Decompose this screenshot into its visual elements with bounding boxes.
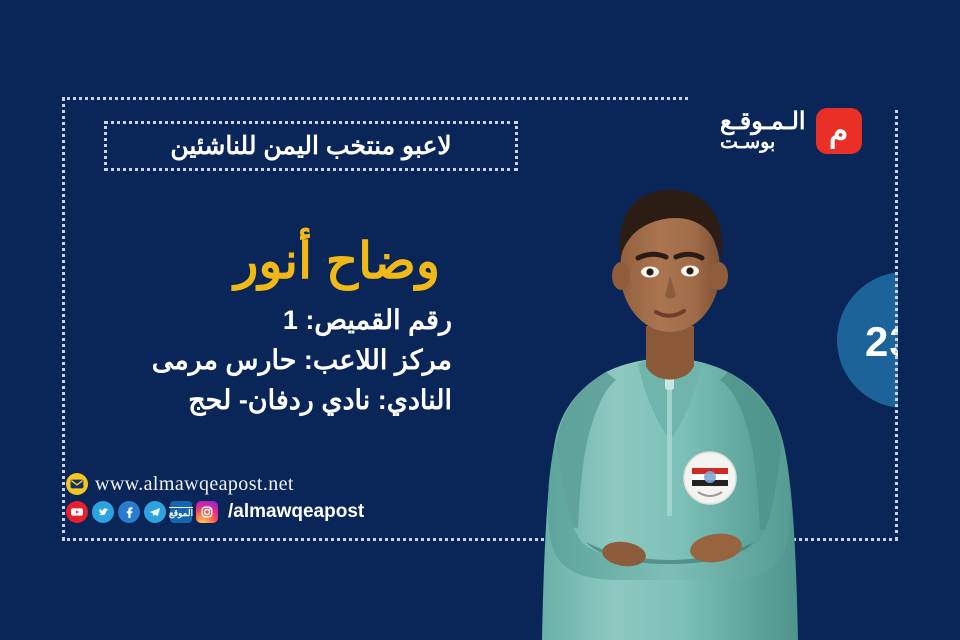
website-row[interactable]: www.almawqeapost.net [66,470,364,498]
youtube-icon[interactable] [66,501,88,523]
ear-right [710,262,728,290]
telegram-icon[interactable] [144,501,166,523]
ear-left [612,262,630,290]
brand-logo[interactable]: الـمـوقـع بوسـت م [720,108,862,154]
section-title: لاعبو منتخب اليمن للناشئين [170,131,451,161]
player-name: وضاح أنور [234,232,440,290]
website-url[interactable]: www.almawqeapost.net [95,473,294,496]
brand-wordmark-line1: الـمـوقـع [720,110,806,133]
social-row[interactable]: الموقع /almawqeapost [66,498,364,526]
social-icon-group[interactable]: الموقع [66,501,218,523]
twitter-icon[interactable] [92,501,114,523]
social-handle[interactable]: /almawqeapost [228,501,364,523]
badge-circle: 23 [837,272,898,408]
instagram-icon[interactable] [196,501,218,523]
player-photo [520,140,820,640]
detail-shirt-number: رقم القميص: 1 [152,300,452,340]
section-title-box: لاعبو منتخب اليمن للناشئين [104,121,518,171]
footer: www.almawqeapost.net [66,470,364,526]
brand-mark-glyph: م [816,115,862,146]
news-app-icon[interactable]: الموقع [170,501,192,523]
news-app-glyph: الموقع [169,507,193,518]
player-profile-graphic: 23 لاعبو منتخب اليمن للناشئين الـمـوقـع … [0,0,960,640]
brand-wordmark: الـمـوقـع بوسـت [720,110,806,152]
brand-wordmark-line2: بوسـت [720,133,775,152]
brand-mark-icon: م [816,108,862,154]
envelope-icon [66,473,88,495]
detail-club: النادي: نادي ردفان- لحج [152,380,452,420]
badge-number: 23 [865,318,898,366]
facebook-icon[interactable] [118,501,140,523]
detail-position: مركز اللاعب: حارس مرمى [152,340,452,380]
neck [646,326,694,380]
border-notch-mask [690,88,905,108]
player-details: رقم القميص: 1 مركز اللاعب: حارس مرمى الن… [152,300,452,420]
